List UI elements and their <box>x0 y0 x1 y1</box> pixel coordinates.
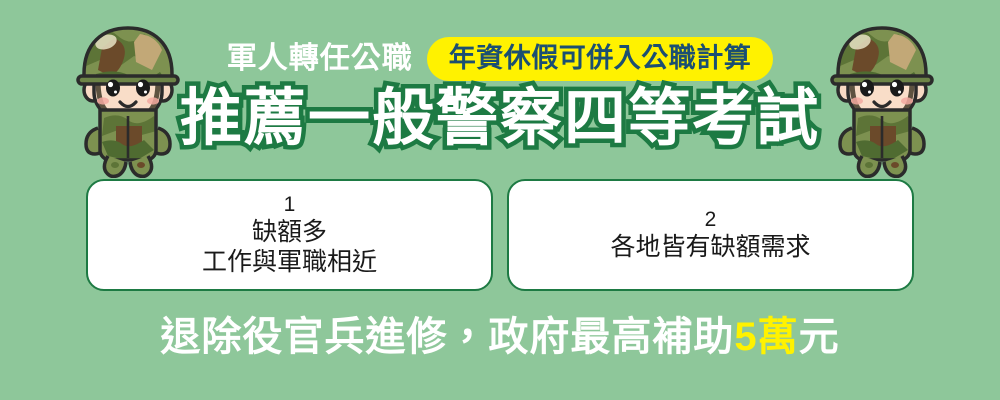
card-line: 缺額多 <box>252 217 327 247</box>
card-line: 工作與軍職相近 <box>202 247 377 277</box>
card-number: 1 <box>284 193 296 218</box>
footer-note: 退除役官兵進修，政府最高補助5萬元 <box>0 314 1000 360</box>
footer-text-after: 元 <box>799 315 840 359</box>
footer-text-before: 退除役官兵進修，政府最高補助 <box>160 315 734 359</box>
benefit-card-1: 1 缺額多 工作與軍職相近 <box>86 179 493 291</box>
kicker-text: 軍人轉任公職 <box>227 44 413 74</box>
card-line: 各地皆有缺額需求 <box>610 232 810 262</box>
benefit-card-2: 2 各地皆有缺額需求 <box>507 179 914 291</box>
highlight-badge: 年資休假可併入公職計算 <box>427 37 774 81</box>
page-title: 推薦一般警察四等考試 <box>0 88 1000 150</box>
benefit-cards: 1 缺額多 工作與軍職相近 2 各地皆有缺額需求 <box>86 179 914 291</box>
promo-banner: 軍人轉任公職 年資休假可併入公職計算 推薦一般警察四等考試 1 缺額多 工作與軍… <box>0 0 1000 400</box>
header-row: 軍人轉任公職 年資休假可併入公職計算 <box>0 36 1000 82</box>
footer-amount-highlight: 5萬 <box>734 315 798 359</box>
card-number: 2 <box>705 208 717 233</box>
